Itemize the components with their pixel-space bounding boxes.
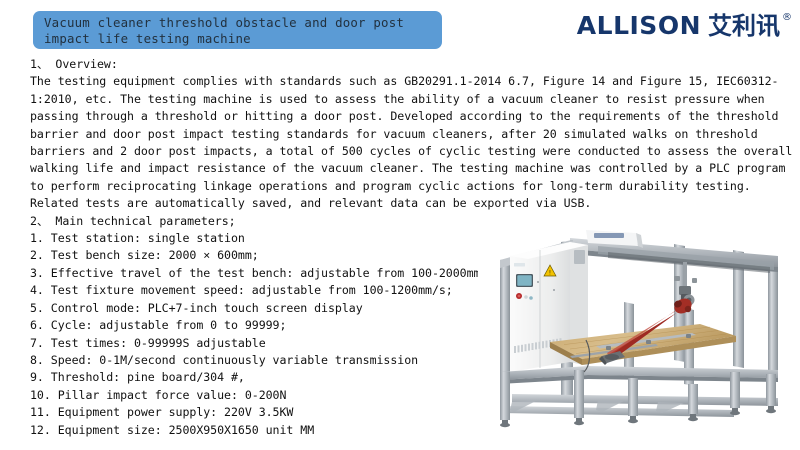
overview-paragraph: The testing equipment complies with stan… (0, 73, 800, 212)
logo-latin-text: ALLISON (577, 12, 701, 40)
overview-line: 1:2010, etc. The testing machine is used… (0, 91, 800, 108)
logo-cjk-text: 艾利讯 (708, 12, 780, 40)
machine-photo: ! (478, 220, 796, 445)
overview-line: Related tests are automatically saved, a… (0, 195, 800, 212)
page-header: Vacuum cleaner threshold obstacle and do… (0, 0, 800, 56)
overview-line: to perform reciprocating linkage operati… (0, 178, 800, 195)
overview-line: barriers and 2 door post impacts, a tota… (0, 143, 800, 160)
title-banner: Vacuum cleaner threshold obstacle and do… (33, 11, 442, 49)
overview-line: passing through a threshold or hitting a… (0, 108, 800, 125)
overview-line: The testing equipment complies with stan… (0, 73, 800, 90)
overview-heading: 1、 Overview: (0, 56, 800, 73)
overview-line: walking life and impact resistance of th… (0, 160, 800, 177)
company-logo: ALLISON 艾利讯 ® (577, 12, 792, 44)
title-line-2: impact life testing machine (44, 31, 442, 47)
svg-text:!: ! (549, 269, 551, 276)
registered-trademark-icon: ® (782, 13, 792, 23)
title-line-1: Vacuum cleaner threshold obstacle and do… (44, 15, 442, 31)
overview-line: barrier and door post impact testing sta… (0, 126, 800, 143)
